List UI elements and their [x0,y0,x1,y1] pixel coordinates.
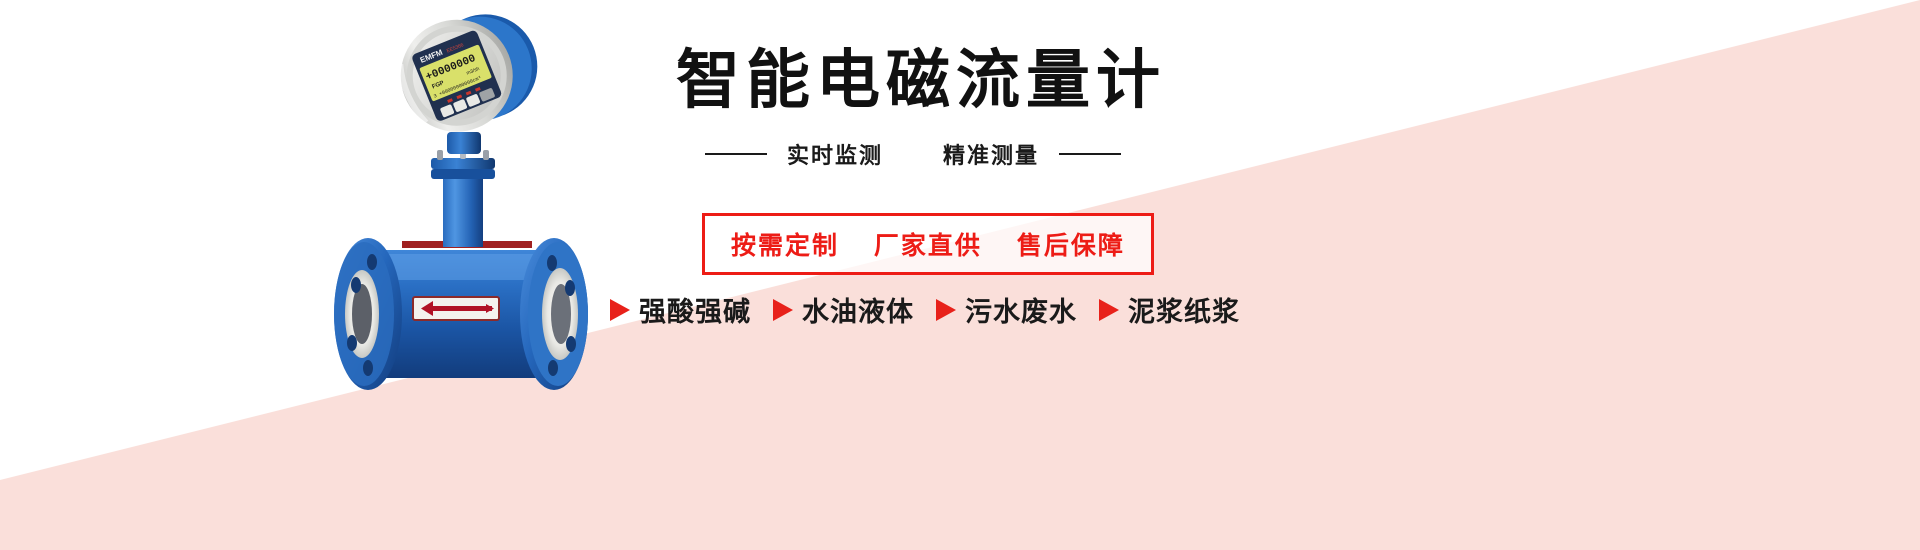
application-item: 泥浆纸浆 [1099,290,1240,329]
bolt-hole [566,336,576,352]
bolt-hole [548,360,558,376]
bolt-hole [367,254,377,270]
subtitle-right: 精准测量 [943,138,1039,170]
bolt-hole [547,255,557,271]
neck-bolt [483,150,489,160]
body-highlight [382,254,544,280]
rule-right-icon [1059,153,1121,155]
bolt-hole [347,335,357,351]
application-item: 强酸强碱 [610,290,751,329]
flow-direction-arrow [413,297,499,320]
application-label: 强酸强碱 [639,290,751,329]
neck-bolt [437,150,443,160]
promo-item-3: 售后保障 [1017,232,1125,260]
application-label: 水油液体 [802,290,914,329]
application-label: 污水废水 [965,290,1077,329]
bolt-hole [363,360,373,376]
neck-flange-lower [431,169,495,179]
banner-content: 智能电磁流量计 实时监测 精准测量 按需定制 厂家直供 售后保障 强酸强碱 水油… [600,0,1920,550]
page-title: 智能电磁流量计 [676,48,1166,112]
bolt-hole [565,280,575,296]
bolt-hole [351,277,361,293]
product-banner: EMFM EE5366 +0000000 FGP m3/sh 3 +000000… [0,0,1920,550]
application-item: 水油液体 [773,290,914,329]
rule-left-icon [705,153,767,155]
transmitter-collar [447,132,481,154]
subtitle-left: 实时监测 [787,138,883,170]
promo-item-2: 厂家直供 [874,232,982,260]
transmitter-head: EMFM EE5366 +0000000 FGP m3/sh 3 +000000… [384,0,554,149]
neck-pipe [443,175,483,247]
flowmeter-neck [431,132,495,247]
promo-item-1: 按需定制 [731,232,839,260]
triangle-right-icon [1099,299,1119,321]
right-flange [520,238,588,390]
triangle-right-icon [610,299,630,321]
left-flange [334,238,402,390]
triangle-right-icon [773,299,793,321]
application-label: 泥浆纸浆 [1128,290,1240,329]
application-item: 污水废水 [936,290,1077,329]
promo-badge: 按需定制 厂家直供 售后保障 [702,213,1154,275]
applications-row: 强酸强碱 水油液体 污水废水 泥浆纸浆 [610,290,1240,329]
triangle-right-icon [936,299,956,321]
flow-arrow-shaft [432,306,492,311]
left-flange-bore [352,284,372,344]
subtitle-row: 实时监测 精准测量 [705,138,1121,170]
